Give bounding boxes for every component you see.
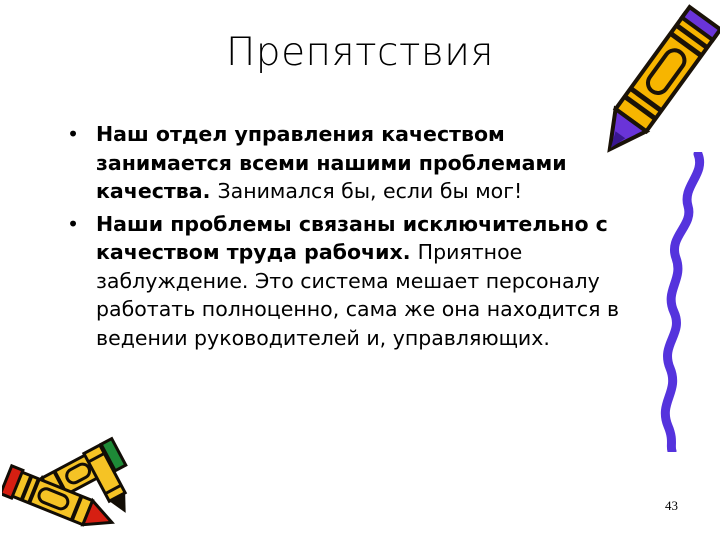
presentation-slide: Препятствия • Наш отдел управления качес…: [0, 0, 720, 540]
list-item-text: Наши проблемы связаны исключительно с ка…: [96, 210, 646, 353]
bullet-point-icon: •: [66, 210, 80, 239]
bullet-list: • Наш отдел управления качеством занимае…: [58, 120, 646, 356]
list-item-text-plain: Занимался бы, если бы мог!: [218, 179, 523, 203]
page-title: Препятствия: [0, 33, 720, 72]
bullet-point-icon: •: [66, 120, 80, 149]
squiggle-stroke-icon: [648, 152, 720, 452]
list-item: • Наши проблемы связаны исключительно с …: [58, 210, 646, 353]
list-item: • Наш отдел управления качеством занимае…: [58, 120, 646, 206]
list-item-text: Наш отдел управления качеством занимаетс…: [96, 120, 646, 206]
list-item-text-emphasis: Наши проблемы связаны исключительно с ка…: [96, 212, 608, 265]
crossed-crayons-icon: [2, 424, 154, 540]
page-number: 43: [665, 498, 678, 514]
